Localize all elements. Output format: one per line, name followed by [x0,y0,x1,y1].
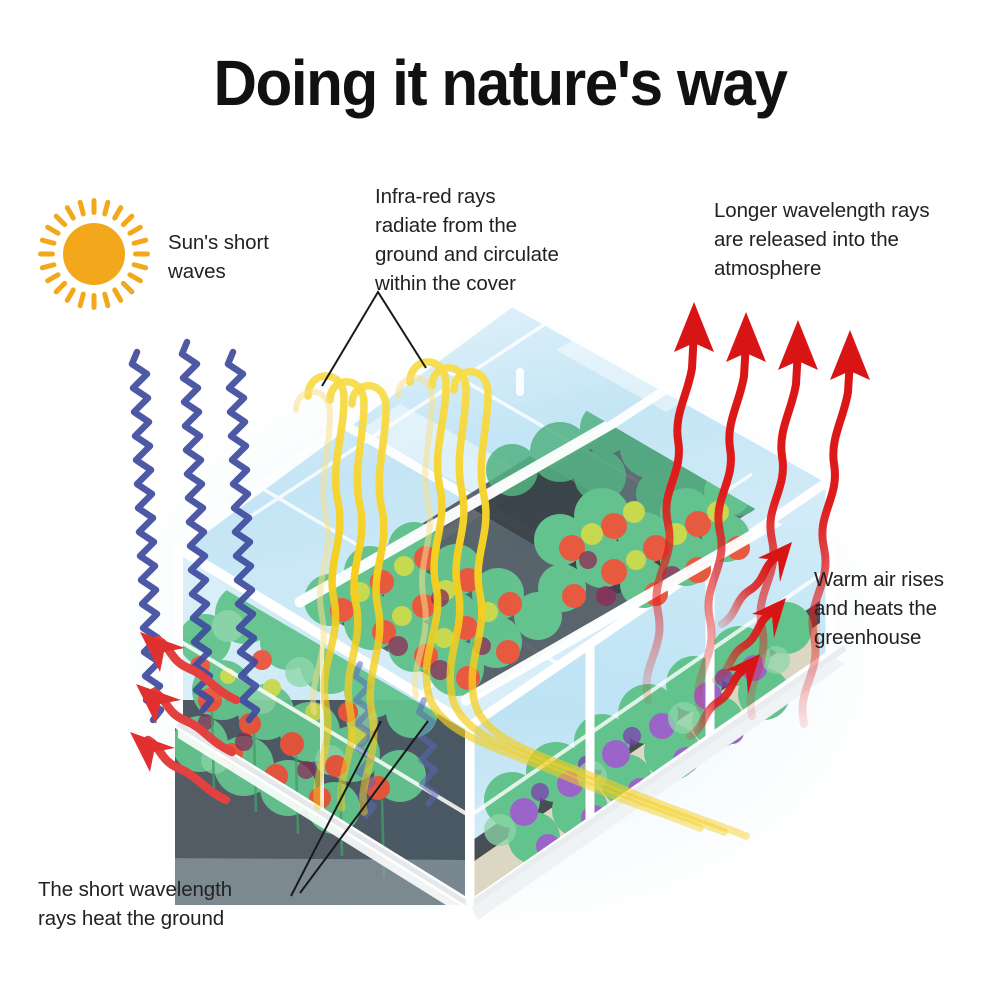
greenhouse-illustration [0,0,1000,1000]
heat-rays-up-arrowheads [674,302,870,380]
caption-warm-air-rises: Warm air rises and heats the greenhouse [814,565,994,652]
caption-infrared-rays: Infra-red rays radiate from the ground a… [375,182,620,298]
caption-suns-short-waves: Sun's short waves [168,228,358,286]
sun-icon [36,196,152,312]
caption-longer-wavelength: Longer wavelength rays are released into… [714,196,964,283]
page-title: Doing it nature's way [30,46,970,120]
caption-short-wavelength-ground: The short wavelength rays heat the groun… [38,875,308,933]
infographic-canvas: Doing it nature's way [0,0,1000,1000]
